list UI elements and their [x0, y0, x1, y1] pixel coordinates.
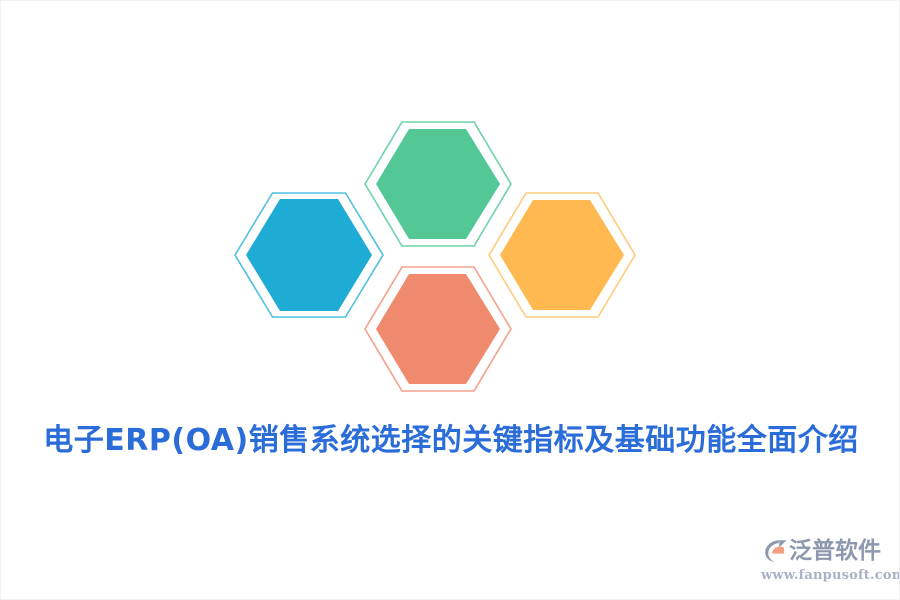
hexagon-orange-fill [500, 200, 624, 310]
hexagon-cluster-svg [1, 1, 900, 421]
hexagon-blue-fill [246, 199, 372, 311]
hexagon-green-fill [376, 129, 500, 239]
brand-logo-row: 泛普软件 [759, 535, 891, 567]
brand-name: 泛普软件 [789, 537, 881, 565]
brand-url: www.fanpusoft.com [759, 568, 891, 584]
page-title: 电子ERP(OA)销售系统选择的关键指标及基础功能全面介绍 [1, 419, 900, 463]
brand-logo: 泛普软件 www.fanpusoft.com [759, 535, 891, 587]
hexagon-cluster-graphic [1, 1, 900, 421]
hexagon-green [365, 122, 511, 246]
hexagon-blue [235, 193, 383, 317]
fanpu-crescent-logo-icon [759, 537, 787, 565]
hexagon-orange [489, 193, 635, 317]
hexagon-salmon-fill [376, 274, 500, 384]
hexagon-salmon [365, 267, 511, 391]
poster-canvas: 电子ERP(OA)销售系统选择的关键指标及基础功能全面介绍 泛普软件 www.f… [0, 0, 900, 600]
